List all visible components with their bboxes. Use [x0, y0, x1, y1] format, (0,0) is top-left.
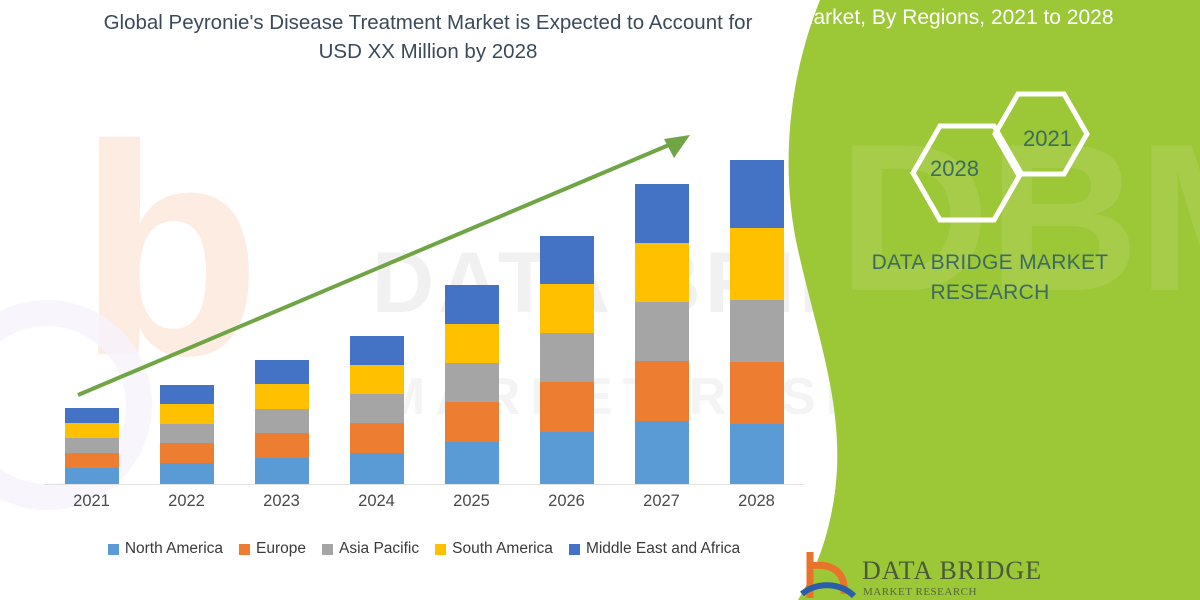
- year-hexagons: 2021 2028: [888, 88, 1118, 228]
- legend-swatch-icon: [569, 544, 580, 555]
- hexagon-label-end: 2028: [930, 156, 979, 182]
- brand-panel: DBMR Market, By Regions, 2021 to 2028 20…: [780, 0, 1200, 600]
- bar-2022[interactable]: [160, 385, 214, 484]
- legend-label: South America: [452, 540, 553, 558]
- panel-title: Market, By Regions, 2021 to 2028: [796, 6, 1196, 30]
- bar-segment: [255, 433, 309, 458]
- legend-swatch-icon: [322, 544, 333, 555]
- bar-segment: [255, 409, 309, 433]
- bar-segment: [65, 423, 119, 438]
- bar-segment: [65, 468, 119, 484]
- bar-segment: [350, 365, 404, 394]
- legend-item[interactable]: North America: [108, 540, 223, 558]
- bar-segment: [540, 236, 594, 284]
- brand-name: DATA BRIDGE MARKET RESEARCH: [780, 248, 1200, 309]
- legend-swatch-icon: [435, 544, 446, 555]
- bar-segment: [445, 324, 499, 363]
- chart-plot-area: [44, 124, 804, 484]
- bar-segment: [255, 384, 309, 409]
- bar-2021[interactable]: [65, 408, 119, 484]
- legend-label: Europe: [256, 540, 306, 558]
- infographic-root: b DATA BRIDGE MARKET RESEARCH Global Pey…: [0, 0, 1200, 600]
- legend-label: Middle East and Africa: [586, 540, 740, 558]
- bar-segment: [65, 408, 119, 423]
- bar-segment: [160, 443, 214, 463]
- company-logo: DATA BRIDGE MARKET RESEARCH: [800, 548, 1200, 600]
- bar-2025[interactable]: [445, 285, 499, 484]
- x-axis-line: [44, 484, 804, 485]
- bar-2024[interactable]: [350, 336, 404, 484]
- bar-segment: [635, 361, 689, 421]
- bar-segment: [350, 423, 404, 453]
- bar-segment: [635, 184, 689, 243]
- bar-segment: [445, 363, 499, 402]
- chart-legend: North AmericaEuropeAsia PacificSouth Ame…: [44, 540, 804, 558]
- x-axis-label-2022: 2022: [142, 492, 232, 511]
- hexagon-label-start: 2021: [1023, 126, 1072, 152]
- bar-2027[interactable]: [635, 184, 689, 484]
- legend-item[interactable]: South America: [435, 540, 553, 558]
- bar-segment: [445, 442, 499, 484]
- x-axis-label-2021: 2021: [47, 492, 137, 511]
- x-axis-label-2023: 2023: [237, 492, 327, 511]
- brand-name-line-2: RESEARCH: [780, 278, 1200, 308]
- bar-2023[interactable]: [255, 360, 309, 484]
- bar-2028[interactable]: [730, 160, 784, 484]
- bar-segment: [255, 458, 309, 484]
- bar-segment: [160, 463, 214, 484]
- brand-name-line-1: DATA BRIDGE MARKET: [780, 248, 1200, 278]
- bar-segment: [350, 336, 404, 365]
- bar-segment: [540, 284, 594, 333]
- x-axis-label-2024: 2024: [332, 492, 422, 511]
- x-axis-label-2027: 2027: [617, 492, 707, 511]
- bar-segment: [65, 438, 119, 453]
- bar-segment: [730, 362, 784, 424]
- legend-swatch-icon: [108, 544, 119, 555]
- stacked-bar-chart: 20212022202320242025202620272028 North A…: [0, 0, 820, 600]
- bar-segment: [730, 300, 784, 362]
- x-axis-label-2025: 2025: [427, 492, 517, 511]
- bar-segment: [540, 333, 594, 382]
- bar-segment: [540, 432, 594, 484]
- bar-segment: [730, 160, 784, 228]
- bar-segment: [540, 382, 594, 432]
- legend-label: North America: [125, 540, 223, 558]
- legend-swatch-icon: [239, 544, 250, 555]
- bar-segment: [635, 421, 689, 484]
- x-axis-label-2026: 2026: [522, 492, 612, 511]
- bar-2026[interactable]: [540, 236, 594, 484]
- legend-item[interactable]: Europe: [239, 540, 306, 558]
- bar-segment: [350, 453, 404, 484]
- bridge-logo-icon: [800, 548, 860, 600]
- bar-segment: [635, 302, 689, 361]
- logo-name: DATA BRIDGE: [862, 556, 1042, 586]
- bar-segment: [160, 404, 214, 424]
- bar-segment: [65, 453, 119, 468]
- bar-segment: [730, 228, 784, 300]
- bar-segment: [445, 402, 499, 442]
- bar-segment: [160, 385, 214, 404]
- bar-segment: [635, 243, 689, 302]
- bar-segment: [160, 424, 214, 443]
- legend-label: Asia Pacific: [339, 540, 419, 558]
- logo-tagline: MARKET RESEARCH: [863, 586, 977, 598]
- bar-segment: [350, 394, 404, 423]
- hexagon-shapes: [888, 88, 1118, 228]
- bar-segment: [730, 424, 784, 484]
- bar-segment: [255, 360, 309, 384]
- legend-item[interactable]: Asia Pacific: [322, 540, 419, 558]
- x-axis-labels: 20212022202320242025202620272028: [44, 492, 804, 522]
- legend-item[interactable]: Middle East and Africa: [569, 540, 740, 558]
- bar-segment: [445, 285, 499, 324]
